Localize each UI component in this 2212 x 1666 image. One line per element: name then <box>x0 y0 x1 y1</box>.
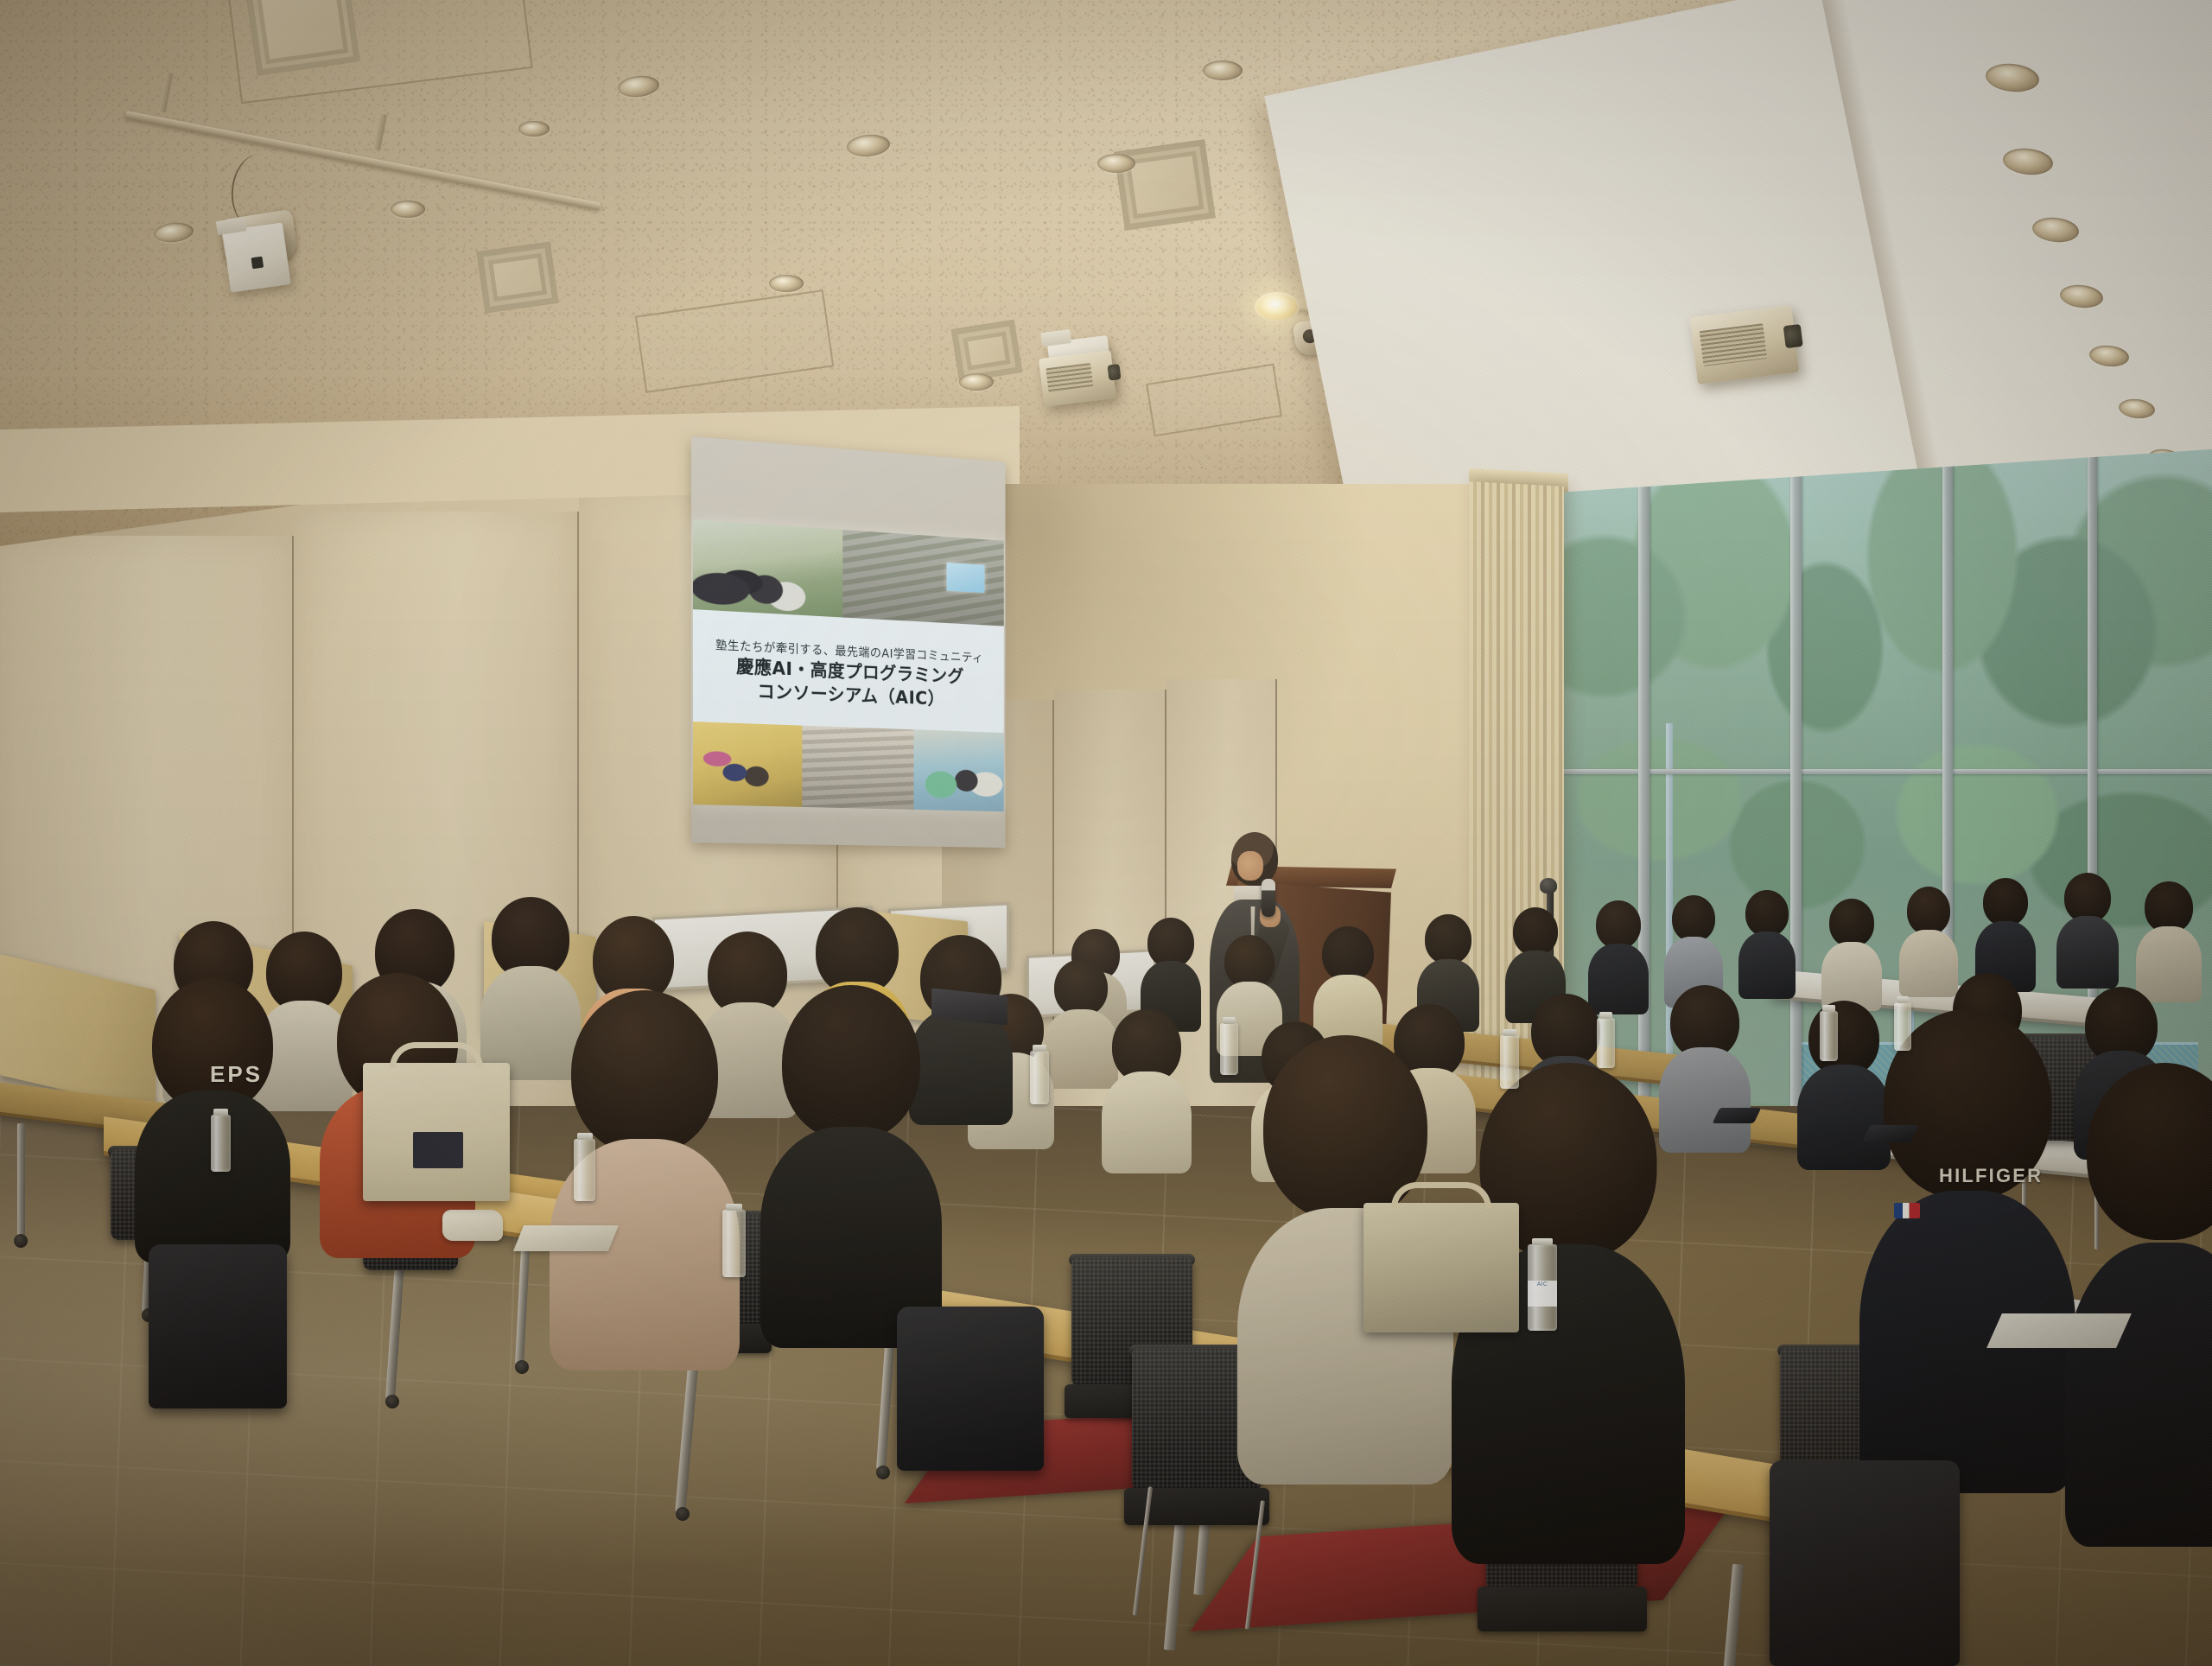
audience-member <box>1102 1009 1192 1173</box>
tote-bag <box>363 1063 510 1201</box>
speaker-face <box>1237 851 1263 881</box>
water-bottle-aic: AIC <box>1528 1244 1557 1331</box>
jacket-flag-patch <box>1894 1203 1920 1218</box>
window-transom <box>1521 769 2212 774</box>
audience-member-foreground <box>1859 1009 2075 1493</box>
head <box>1907 887 1950 935</box>
audience-member <box>2136 881 2202 1002</box>
backpack <box>149 1244 287 1408</box>
speaker-logo <box>251 256 264 269</box>
bottle-cap <box>1532 1238 1553 1245</box>
bottle-cap <box>1033 1045 1046 1052</box>
water-bottle <box>211 1115 231 1172</box>
jacket-brand-text: HILFIGER <box>1939 1165 2043 1187</box>
head <box>1054 959 1108 1016</box>
recessed-downlight <box>1203 60 1243 80</box>
projection-screen: 塾生たちが牽引する、最先端のAI学習コミュニティ 慶應AI・高度プログラミング … <box>691 436 1006 848</box>
smartphone <box>1862 1125 1919 1142</box>
paper-sheet <box>1986 1313 2132 1348</box>
slide-photo-classroom <box>802 726 913 810</box>
head <box>1224 935 1274 989</box>
water-bottle <box>574 1139 595 1201</box>
recessed-downlight <box>769 275 804 292</box>
head <box>1596 900 1641 949</box>
ceiling-projector <box>1690 305 1800 385</box>
water-bottle <box>722 1210 746 1277</box>
audience-member-foreground <box>2065 1063 2212 1547</box>
water-bottle <box>1220 1023 1238 1075</box>
head <box>782 985 920 1141</box>
slide-text-block: 塾生たちが牽引する、最先端のAI学習コミュニティ 慶應AI・高度プログラミング … <box>693 609 1004 738</box>
water-bottle <box>1597 1018 1615 1068</box>
wall-speaker <box>222 222 290 292</box>
torso <box>2056 916 2119 989</box>
hoodie-text: EPS <box>210 1061 263 1088</box>
recessed-downlight <box>1097 154 1135 173</box>
head <box>2145 881 2193 933</box>
table-caster <box>676 1507 690 1521</box>
table-caster <box>515 1360 529 1374</box>
tote-handle <box>390 1042 484 1068</box>
head <box>1322 926 1374 982</box>
backpack <box>897 1307 1044 1471</box>
slide-photo-inner-screen <box>947 563 985 593</box>
projector-lens <box>1107 364 1121 381</box>
bottle-label: AIC <box>1528 1281 1557 1307</box>
projector-lens <box>1783 324 1803 348</box>
head <box>571 990 718 1154</box>
audience-member <box>1821 899 1882 1011</box>
recessed-downlight-lit <box>1255 292 1300 321</box>
hvac-diffuser <box>476 241 558 313</box>
torso <box>2065 1243 2212 1547</box>
projector-vent <box>1046 363 1093 393</box>
table-caster <box>14 1234 28 1248</box>
bottle-cap <box>1223 1017 1236 1024</box>
speaker-bracket <box>216 217 247 235</box>
speaker-bracket <box>1040 329 1071 347</box>
audience-member <box>1738 890 1796 999</box>
bottle-cap <box>1897 996 1909 1003</box>
bottle-cap <box>577 1133 593 1140</box>
water-bottle <box>1500 1035 1519 1089</box>
bottle-cap <box>726 1204 742 1211</box>
head <box>2087 1063 2212 1240</box>
projected-slide: 塾生たちが牽引する、最先端のAI学習コミュニティ 慶應AI・高度プログラミング … <box>693 519 1004 811</box>
projector-vent <box>1700 323 1767 366</box>
chair-seat <box>1478 1587 1647 1631</box>
backpack <box>1770 1460 1960 1666</box>
microphone-head <box>1540 878 1557 893</box>
slide-photo-students-laptops <box>693 722 802 807</box>
torso <box>1102 1071 1192 1173</box>
slide-bottom-photo-strip <box>693 722 1004 811</box>
head <box>1425 914 1471 964</box>
bottle-cap <box>1503 1029 1516 1036</box>
handheld-microphone <box>1262 879 1275 917</box>
water-bottle <box>1820 1011 1838 1061</box>
hvac-diffuser <box>951 320 1023 383</box>
water-bottle <box>1894 1002 1911 1051</box>
ceiling-projector <box>1039 350 1116 407</box>
hvac-diffuser <box>1114 139 1216 231</box>
audience-member-foreground <box>760 985 942 1348</box>
head <box>1983 878 2028 926</box>
tissue-paper <box>442 1210 503 1241</box>
smartphone <box>1713 1108 1762 1123</box>
head <box>1745 890 1789 937</box>
tote-bag <box>1363 1203 1519 1332</box>
bottle-cap <box>1599 1012 1612 1019</box>
audience-member <box>2056 873 2119 989</box>
slide-photo-lecture-hall <box>843 530 1004 633</box>
head <box>1829 899 1874 947</box>
slide-photo-students-standing <box>914 729 1004 811</box>
water-bottle <box>1030 1051 1049 1104</box>
bottle-cap <box>1822 1005 1835 1012</box>
table-leg <box>17 1123 25 1236</box>
head <box>1513 907 1558 956</box>
tote-brand-patch <box>413 1132 463 1168</box>
table-caster <box>385 1395 399 1408</box>
bottle-cap <box>213 1109 228 1116</box>
slide-photo-students-discussing <box>693 519 843 624</box>
recessed-downlight <box>391 200 425 218</box>
recessed-downlight <box>518 121 550 137</box>
table-caster <box>876 1466 890 1479</box>
paper-sheet <box>513 1225 619 1251</box>
lecture-room-photo: 塾生たちが牽引する、最先端のAI学習コミュニティ 慶應AI・高度プログラミング … <box>0 0 2212 1666</box>
tote-handle <box>1391 1182 1491 1208</box>
recessed-downlight <box>959 373 994 391</box>
head <box>1672 895 1715 942</box>
